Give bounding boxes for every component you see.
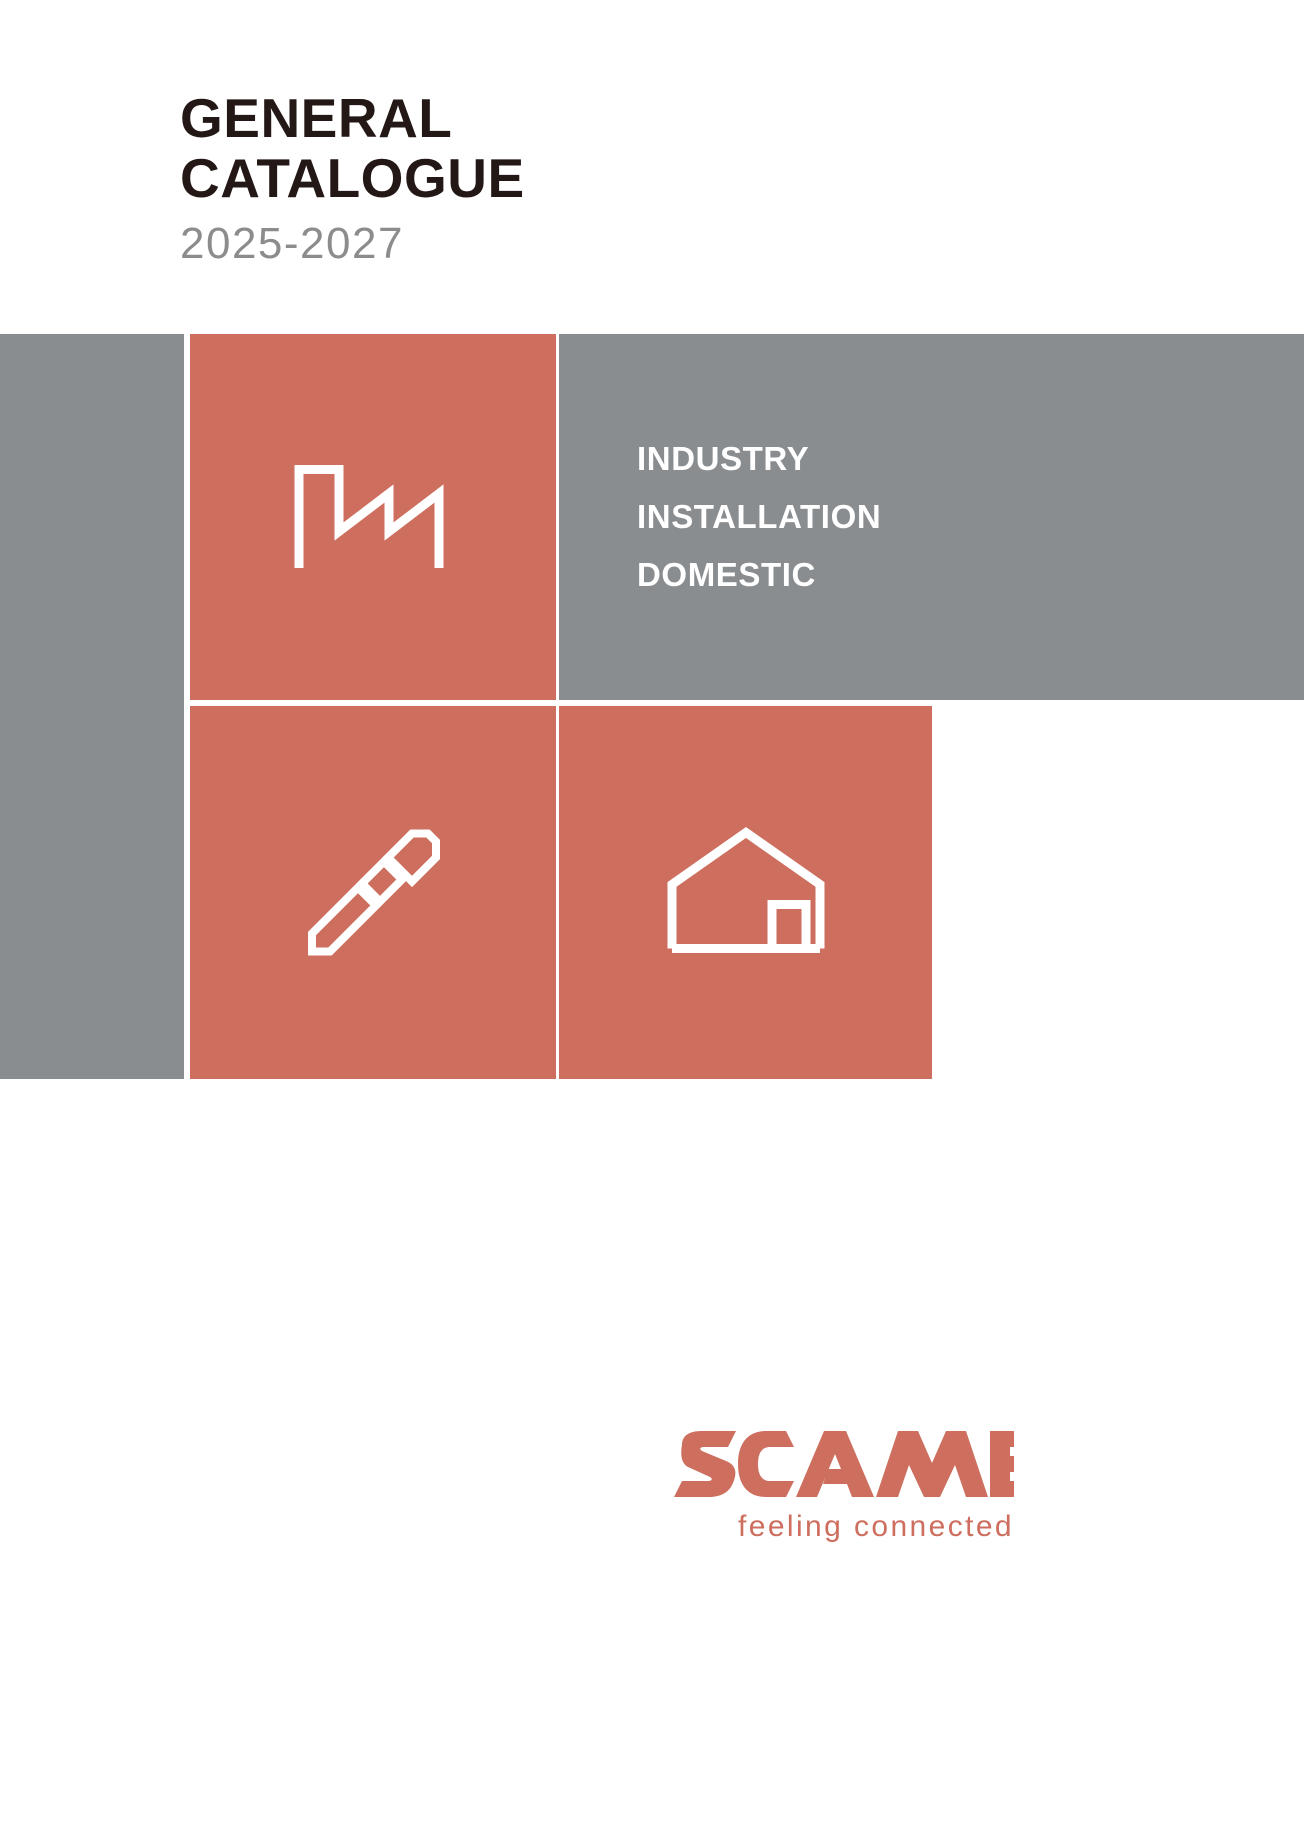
tile-mosaic: INDUSTRY INSTALLATION DOMESTIC	[0, 334, 1304, 1079]
screwdriver-icon	[298, 815, 448, 970]
brand-logo: feeling connected	[674, 1429, 1014, 1544]
catalogue-cover-page: GENERAL CATALOGUE 2025-2027 INDUSTRY INS…	[0, 0, 1304, 1844]
domestic-tile[interactable]	[559, 706, 932, 1079]
category-item-domestic: DOMESTIC	[637, 546, 881, 604]
category-item-installation: INSTALLATION	[637, 488, 881, 546]
brand-tagline: feeling connected	[674, 1510, 1014, 1544]
factory-icon	[293, 460, 453, 575]
title-line-2: CATALOGUE	[180, 148, 1080, 208]
title-subtitle-years: 2025-2027	[180, 218, 1080, 270]
category-item-industry: INDUSTRY	[637, 430, 881, 488]
title-line-1: GENERAL	[180, 88, 1080, 148]
installation-tile[interactable]	[190, 706, 556, 1079]
house-icon	[666, 826, 826, 959]
left-gray-strip	[0, 334, 184, 1079]
scame-wordmark-icon	[674, 1429, 1014, 1504]
categories-tile: INDUSTRY INSTALLATION DOMESTIC	[559, 334, 1304, 700]
industry-tile[interactable]	[190, 334, 556, 700]
category-list: INDUSTRY INSTALLATION DOMESTIC	[637, 430, 881, 604]
page-title: GENERAL CATALOGUE 2025-2027	[180, 88, 1080, 270]
